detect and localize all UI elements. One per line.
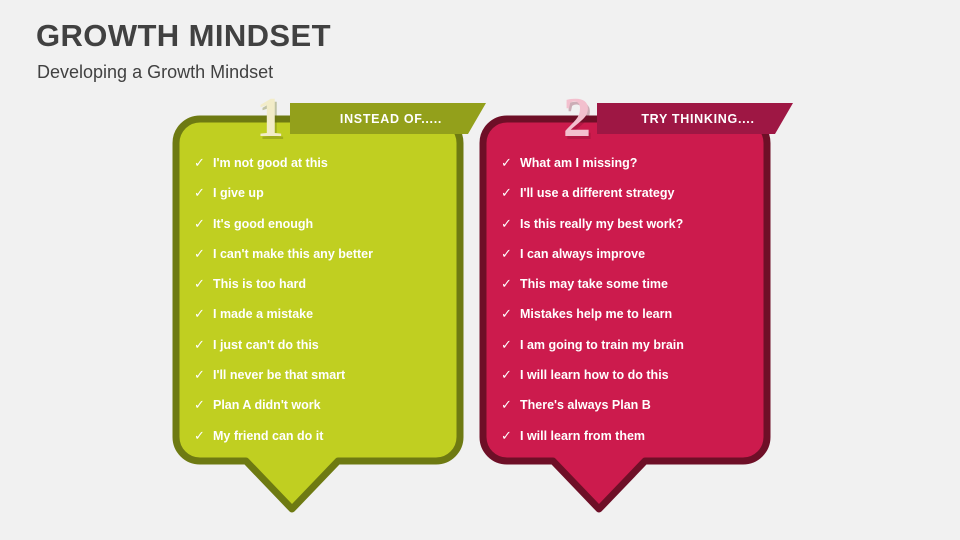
list-item: ✓ I can always improve — [501, 246, 759, 276]
check-icon: ✓ — [501, 185, 520, 201]
check-icon: ✓ — [194, 337, 213, 353]
list-item-label: I made a mistake — [213, 306, 313, 322]
green-step-number: 1 — [256, 90, 284, 146]
slide: GROWTH MINDSET Developing a Growth Minds… — [0, 0, 960, 540]
list-item: ✓ This may take some time — [501, 276, 759, 306]
list-item-label: I give up — [213, 185, 264, 201]
list-item-label: Plan A didn't work — [213, 397, 321, 413]
check-icon: ✓ — [501, 276, 520, 292]
check-icon: ✓ — [194, 155, 213, 171]
list-item-label: I am going to train my brain — [520, 337, 684, 353]
check-icon: ✓ — [194, 367, 213, 383]
check-icon: ✓ — [501, 397, 520, 413]
check-icon: ✓ — [501, 216, 520, 232]
check-icon: ✓ — [194, 306, 213, 322]
check-icon: ✓ — [194, 216, 213, 232]
list-item-label: Mistakes help me to learn — [520, 306, 672, 322]
check-icon: ✓ — [501, 246, 520, 262]
list-item: ✓ I am going to train my brain — [501, 337, 759, 367]
list-item-label: I'll never be that smart — [213, 367, 345, 383]
check-icon: ✓ — [194, 246, 213, 262]
red-list: ✓ What am I missing? ✓ I'll use a differ… — [501, 155, 759, 458]
list-item-label: My friend can do it — [213, 428, 323, 444]
page-title: GROWTH MINDSET — [36, 18, 331, 54]
check-icon: ✓ — [194, 428, 213, 444]
check-icon: ✓ — [501, 306, 520, 322]
list-item-label: I'll use a different strategy — [520, 185, 674, 201]
list-item: ✓ There's always Plan B — [501, 397, 759, 427]
green-banner-label: INSTEAD OF..... — [290, 103, 468, 134]
column-try-thinking: TRY THINKING.... 2 ✓ What am I missing? … — [479, 103, 771, 513]
list-item: ✓ Plan A didn't work — [194, 397, 452, 427]
list-item-label: I will learn from them — [520, 428, 645, 444]
list-item: ✓ Mistakes help me to learn — [501, 306, 759, 336]
list-item: ✓ What am I missing? — [501, 155, 759, 185]
list-item: ✓ I can't make this any better — [194, 246, 452, 276]
check-icon: ✓ — [194, 185, 213, 201]
check-icon: ✓ — [501, 367, 520, 383]
green-banner: INSTEAD OF..... 1 — [290, 103, 486, 134]
check-icon: ✓ — [194, 397, 213, 413]
list-item: ✓ I give up — [194, 185, 452, 215]
list-item-label: It's good enough — [213, 216, 313, 232]
list-item: ✓ I will learn from them — [501, 428, 759, 458]
green-list: ✓ I'm not good at this ✓ I give up ✓ It'… — [194, 155, 452, 458]
list-item: ✓ My friend can do it — [194, 428, 452, 458]
list-item-label: Is this really my best work? — [520, 216, 683, 232]
list-item-label: I can't make this any better — [213, 246, 373, 262]
list-item: ✓ I'll use a different strategy — [501, 185, 759, 215]
page-subtitle: Developing a Growth Mindset — [37, 62, 273, 83]
list-item-label: I can always improve — [520, 246, 645, 262]
list-item: ✓ I will learn how to do this — [501, 367, 759, 397]
list-item-label: This may take some time — [520, 276, 668, 292]
list-item-label: I just can't do this — [213, 337, 319, 353]
list-item: ✓ It's good enough — [194, 216, 452, 246]
check-icon: ✓ — [501, 428, 520, 444]
list-item-label: I will learn how to do this — [520, 367, 669, 383]
list-item-label: This is too hard — [213, 276, 306, 292]
list-item: ✓ I'm not good at this — [194, 155, 452, 185]
check-icon: ✓ — [501, 155, 520, 171]
list-item: ✓ I'll never be that smart — [194, 367, 452, 397]
list-item-label: I'm not good at this — [213, 155, 328, 171]
red-banner-label: TRY THINKING.... — [597, 103, 775, 134]
list-item: ✓ Is this really my best work? — [501, 216, 759, 246]
check-icon: ✓ — [501, 337, 520, 353]
column-instead-of: INSTEAD OF..... 1 ✓ I'm not good at this… — [172, 103, 464, 513]
red-banner: TRY THINKING.... 2 — [597, 103, 793, 134]
list-item-label: What am I missing? — [520, 155, 637, 171]
red-step-number: 2 — [563, 90, 591, 146]
list-item: ✓ This is too hard — [194, 276, 452, 306]
list-item-label: There's always Plan B — [520, 397, 651, 413]
list-item: ✓ I made a mistake — [194, 306, 452, 336]
list-item: ✓ I just can't do this — [194, 337, 452, 367]
check-icon: ✓ — [194, 276, 213, 292]
